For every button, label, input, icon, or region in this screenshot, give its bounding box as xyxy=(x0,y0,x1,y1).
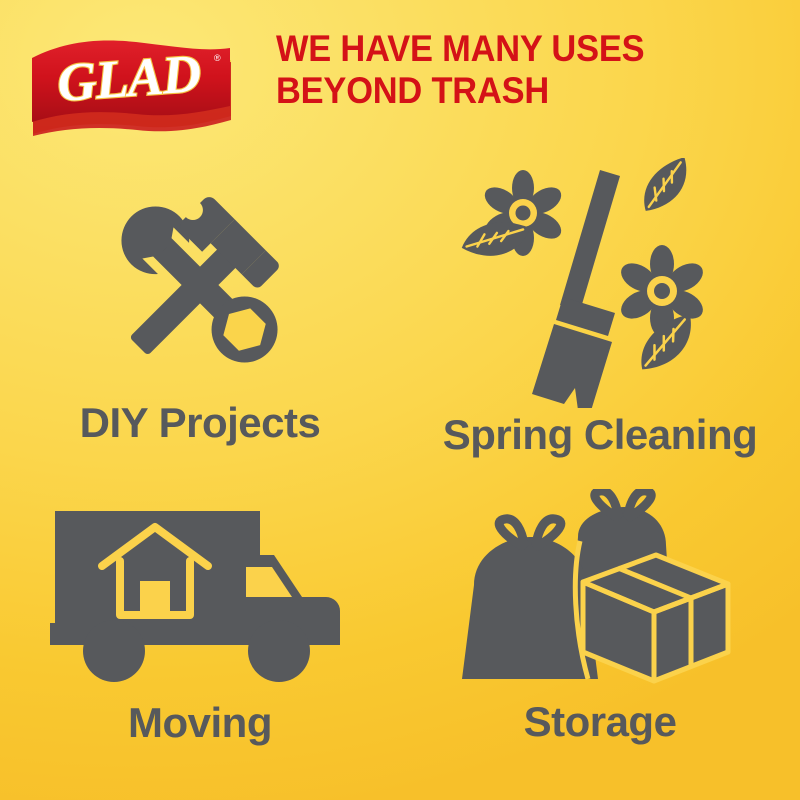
poster-header: GLAD ® GLAD WE HAVE MANY USES BEYOND TRA… xyxy=(0,0,800,150)
broom-flowers-leaves-icon xyxy=(450,158,750,408)
trash-bags-box-icon xyxy=(460,489,740,689)
uses-grid: DIY Projects xyxy=(0,150,800,800)
use-label-spring-cleaning: Spring Cleaning xyxy=(443,414,758,456)
use-label-diy-projects: DIY Projects xyxy=(80,402,321,444)
glad-logo-art: GLAD ® xyxy=(26,36,236,136)
hammer-wrench-icon xyxy=(75,180,325,390)
use-card-spring-cleaning[interactable]: Spring Cleaning xyxy=(400,150,800,475)
glad-logo-text: GLAD xyxy=(236,36,237,37)
use-label-storage: Storage xyxy=(524,701,677,743)
glad-logo-wordmark: GLAD xyxy=(55,43,202,113)
glad-uses-poster: GLAD ® GLAD WE HAVE MANY USES BEYOND TRA… xyxy=(0,0,800,800)
use-label-moving: Moving xyxy=(128,702,272,744)
use-card-moving[interactable]: Moving xyxy=(0,475,400,800)
registered-trademark-icon: ® xyxy=(214,53,221,63)
use-card-diy-projects[interactable]: DIY Projects xyxy=(0,150,400,475)
moving-truck-icon xyxy=(50,503,350,688)
use-card-storage[interactable]: Storage xyxy=(400,475,800,800)
page-headline: WE HAVE MANY USES BEYOND TRASH xyxy=(276,28,741,112)
glad-logo: GLAD ® GLAD xyxy=(26,36,236,136)
